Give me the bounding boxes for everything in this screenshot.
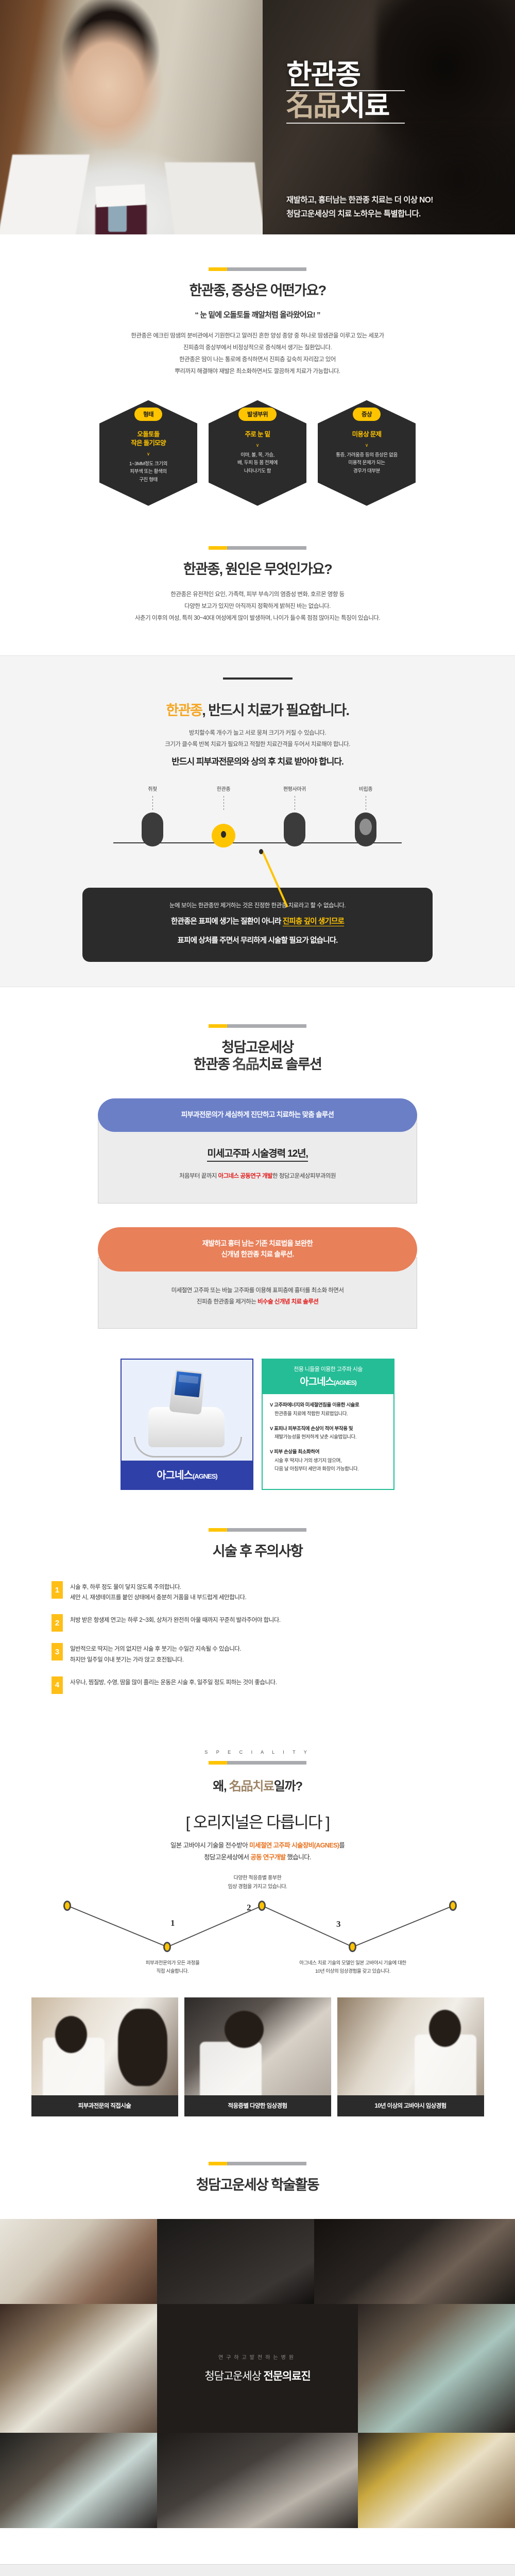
symptom-card-tag: 형태 (134, 408, 162, 421)
speciality-eyebrow: S P E C I A L I T Y (0, 1750, 515, 1755)
original-line1: 일본 고바야시 기술을 전수받아 미세절연 고주파 시술장비(AGNES)를 (0, 1840, 515, 1852)
solution-orange-line2-red: 비수술 신개념 치료 솔루션 (257, 1299, 318, 1305)
cause-body-line-2: 사춘기 이후의 여성, 특히 30~40대 여성에게 많이 발생하며, 나이가 … (0, 613, 515, 624)
section-solution: 청담고운세상 한관종 名品치료 솔루션 피부과전문의가 세심하게 진단하고 치료… (0, 987, 515, 1490)
zigzag-node (163, 1942, 171, 1952)
chevron-down-icon: ∨ (256, 443, 260, 448)
agnes-benefits-header: 전용 니들을 이용한 고주파 시술 아그네스(AGNES) (263, 1360, 393, 1394)
symptom-card-highlight: 미용상 문제 (352, 430, 382, 439)
lesion-shape-flat-wart (284, 812, 305, 846)
agnes-green-title-kr: 아그네스 (300, 1377, 334, 1387)
solution-heading-line2: 한관종 名品치료 솔루션 (0, 1056, 515, 1074)
agnes-device-photo (122, 1360, 252, 1461)
callout-line3: 표피에 상처를 주면서 무리하게 시술할 필요가 없습니다. (93, 935, 422, 947)
lesion-shape-milia (355, 812, 376, 846)
zigzag-caption-1-line2: 직접 시술합니다. (121, 1968, 224, 1976)
callout-line1: 눈에 보이는 한관종만 제거하는 것은 진정한 한관종 치료라고 할 수 없습니… (93, 901, 422, 909)
lesion-comparison-diagram: 쥐젖 한관종 편평사마귀 비립종 (113, 785, 402, 872)
aftercare-item: 1 시술 후, 하루 정도 물이 닿지 않도록 주의합니다. 세안 시, 재생테… (51, 1581, 463, 1603)
section-symptoms: 한관종, 증상은 어떤가요? “ 눈 밑에 오돌토돌 깨알처럼 올라왔어요! ”… (0, 234, 515, 506)
zigzag-caption-2-line1: 아그네스 치료 기술의 모델인 일본 고바야시 기술에 대한 (255, 1959, 451, 1968)
zigzag-node (449, 1901, 457, 1911)
symptoms-quote: “ 눈 밑에 오돌토돌 깨알처럼 올라왔어요! ” (0, 309, 515, 320)
section-press: 주요 언론에 소개된 청담고운세상 아시아뉴스통신Asia news agenc… (0, 2564, 515, 2576)
solution-blue-small: 처음부터 끝까지 아그네스 공동연구 개발한 청담고운세상피부과의원 (109, 1171, 406, 1182)
lesion-shape-syringoma (212, 824, 235, 848)
mosaic-photo (358, 2304, 515, 2433)
mosaic-title-bold: 전문의료진 (263, 2370, 310, 2382)
mosaic-photo (157, 2433, 358, 2528)
speciality-photo (31, 1997, 178, 2095)
section-rule-solution (209, 1024, 306, 1028)
symptom-card-highlight: 오돌토돌작은 돌기모양 (131, 430, 166, 448)
cause-body-line-0: 한관종은 유전적인 요인, 가족력, 피부 부속기의 염증성 변화, 호르몬 영… (0, 589, 515, 601)
section-aftercare: 시술 후 주의사항 1 시술 후, 하루 정도 물이 닿지 않도록 주의합니다.… (0, 1490, 515, 1693)
solution-orange-line2: 진피층 한관종을 제거하는 비수술 신개념 치료 솔루션 (109, 1297, 406, 1308)
agnes-device-caption-en: (AGNES) (193, 1472, 217, 1480)
original-line2-highlight: 공동 연구개발 (250, 1854, 285, 1861)
mosaic-photo (0, 2219, 157, 2304)
hero-subtitle: 재발하고, 흉터남는 한관종 치료는 더 이상 NO! 청담고운세상의 치료 노… (286, 193, 433, 221)
aftercare-item: 3 일반적으로 딱지는 거의 없지만 시술 후 붓기는 수일간 지속될 수 있습… (51, 1643, 463, 1665)
hero-title-brand: 名品 (286, 91, 340, 122)
lesion-item: 비립종 (341, 785, 390, 846)
original-line2-post: 했습니다. (286, 1854, 311, 1861)
hero-doctor-photo (0, 0, 263, 234)
aftercare-text-line: 일반적으로 딱지는 거의 없지만 시술 후 붓기는 수일간 지속될 수 있습니다… (70, 1644, 241, 1654)
hero-title-rest: 치료 (340, 91, 389, 122)
lesion-label: 편평사마귀 (270, 785, 319, 792)
lesion-leader-line (152, 796, 153, 810)
cause-body: 한관종은 유전적인 요인, 가족력, 피부 부속기의 염증성 변화, 호르몬 영… (0, 589, 515, 624)
section-rule-cause (209, 546, 306, 550)
agnes-benefit-item: V 표피나 피부조직에 손상이 적어 부작용 및 재발가능성을 현저하게 낮춘 … (270, 1425, 387, 1442)
need-strong: 반드시 피부과전문의와 상의 후 치료 받아야 합니다. (0, 754, 515, 767)
symptoms-body-line-3: 뿌리까지 해결해야 재발은 최소화하면서도 깔끔하게 치료가 가능합니다. (0, 366, 515, 378)
need-heading-rest: , 반드시 치료가 필요합니다. (202, 703, 349, 718)
solution-orange-line1: 미세절연 고주파 또는 바늘 고주파를 이용해 표피층에 흉터를 최소화 하면서 (109, 1285, 406, 1297)
original-paragraph: 일본 고바야시 기술을 전수받아 미세절연 고주파 시술장비(AGNES)를 청… (0, 1840, 515, 1863)
agnes-benefits-card: 전용 니들을 이용한 고주파 시술 아그네스(AGNES) V 고주파에너지와 … (262, 1359, 394, 1490)
solution-heading-line1: 청담고운세상 (0, 1039, 515, 1057)
zigzag-node (63, 1901, 71, 1911)
symptom-card: 발생부위 주로 눈 밑 ∨ 이마, 볼, 목, 가슴,배, 두피 등 몸 전체에… (209, 400, 306, 506)
zigzag-number-1: 1 (170, 1918, 175, 1928)
symptom-card-list: 형태 오돌토돌작은 돌기모양 ∨ 1~3MM정도 크기의피부색 또는 황색의구진… (0, 400, 515, 506)
agnes-benefit-line: 재발가능성을 현저하게 낮춘 시술법입니다. (270, 1433, 387, 1442)
speciality-photo-trio: 피부과전문의 직접시술 적응증별 다양한 임상경험 10년 이상의 고바야시 임… (0, 1997, 515, 2116)
aftercare-text-line: 하지만 일주일 이내 붓기는 가라 앉고 호전됩니다. (70, 1655, 241, 1665)
original-line1-pre: 일본 고바야시 기술을 전수받아 (170, 1842, 249, 1849)
hero-banner: 한관종 名品치료 재발하고, 흉터남는 한관종 치료는 더 이상 NO! 청담고… (0, 0, 515, 234)
symptoms-body-line-2: 한관종은 땀이 나는 통로에 증식하면서 진피층 깊숙히 자리잡고 있어 (0, 354, 515, 366)
aftercare-text-line: 세안 시, 재생테이프를 붙인 상태에서 충분히 거품을 내 부드럽게 세안합니… (70, 1592, 246, 1603)
zigzag-caption-1: 피부과전문의가 모든 과정을 직접 시술합니다. (121, 1959, 224, 1976)
lesion-label: 비립종 (341, 785, 390, 792)
section-rule-academic (209, 2162, 306, 2165)
original-line1-post: 를 (339, 1842, 345, 1849)
depth-callout-box: 눈에 보이는 한관종만 제거하는 것은 진정한 한관종 치료라고 할 수 없습니… (82, 888, 433, 961)
solution-orange-line2-pre: 진피층 한관종을 제거하는 (197, 1299, 257, 1305)
mosaic-row (0, 2433, 515, 2528)
solution-heading-line2-pre: 한관종 (194, 1057, 233, 1072)
speciality-photo-caption: 10년 이상의 고바야시 임상경험 (337, 2095, 484, 2116)
mosaic-title-pre: 청담고운세상 (204, 2370, 263, 2382)
lesion-shape-skin-tag (142, 812, 163, 846)
aftercare-number: 1 (51, 1581, 63, 1599)
symptoms-heading: 한관종, 증상은 어떤가요? (0, 282, 515, 300)
section-tick (223, 677, 293, 680)
solution-blue-small-post: 한 청담고운세상피부과의원 (272, 1173, 336, 1179)
symptom-card-desc: 1~3MM정도 크기의피부색 또는 황색의구진 형태 (129, 460, 167, 484)
agnes-benefit-item: V 고주파에너지와 미세절연침을 이용한 시술로 한관종을 치료에 적합한 치료… (270, 1401, 387, 1418)
section-speciality: S P E C I A L I T Y 왜, 名品치료일까? [ 오리지널은 다… (0, 1705, 515, 2116)
mosaic-center-text: 연구하고발전하는병원 청담고운세상 전문의료진 (157, 2304, 358, 2433)
original-line2-pre: 청담고운세상에서 (204, 1854, 250, 1861)
speciality-photo-caption: 피부과전문의 직접시술 (31, 2095, 178, 2116)
landing-page: 한관종 名品치료 재발하고, 흉터남는 한관종 치료는 더 이상 NO! 청담고… (0, 0, 515, 2576)
mosaic-eyebrow: 연구하고발전하는병원 (218, 2353, 297, 2361)
lesion-item: 편평사마귀 (270, 785, 319, 846)
solution-blue-small-pre: 처음부터 끝까지 (179, 1173, 218, 1179)
lesion-item: 쥐젖 (128, 785, 177, 846)
lesion-leader-line (224, 796, 224, 810)
aftercare-text: 사우나, 찜질방, 수영, 땀을 많이 흘리는 운동은 시술 후, 일주일 정도… (70, 1676, 277, 1688)
need-p2: 크기가 클수록 반복 치료가 필요하고 적절한 치료간격을 두어서 치료해야 합… (0, 739, 515, 750)
original-line2: 청담고운세상에서 공동 연구개발 했습니다. (0, 1852, 515, 1863)
hero-title-line1: 한관종 (286, 61, 503, 89)
aftercare-text: 시술 후, 하루 정도 물이 닿지 않도록 주의합니다. 세안 시, 재생테이프… (70, 1581, 246, 1603)
lesion-label: 쥐젖 (128, 785, 177, 792)
solution-pill-orange-line1: 재발하고 흉터 남는 기존 치료법을 보완한 (103, 1239, 412, 1249)
speciality-heading-pre: 왜, (213, 1780, 229, 1793)
agnes-device-caption-kr: 아그네스 (157, 1470, 193, 1481)
solution-pill-blue: 피부과전문의가 세심하게 진단하고 치료하는 맞춤 솔루션 (98, 1098, 417, 1132)
mosaic-center-tile: 연구하고발전하는병원 청담고운세상 전문의료진 (157, 2304, 358, 2433)
section-academic: 청담고운세상 학술활동 연구하고발전하는병원 청담고운세상 전문의료진 (0, 2116, 515, 2528)
symptoms-body-line-0: 한관종은 에크린 땀샘의 분비관에서 기원한다고 알려진 흔한 양성 종양 중 … (0, 330, 515, 342)
solution-blue-big: 미세고주파 시술경력 12년, (207, 1146, 307, 1162)
mosaic-photo (0, 2304, 157, 2433)
lesion-leader-line (295, 796, 295, 810)
speciality-heading-brand: 名品치료 (229, 1780, 274, 1793)
section-rule-aftercare (209, 1528, 306, 1532)
hero-title-line2: 名品치료 (286, 92, 503, 121)
symptom-card: 형태 오돌토돌작은 돌기모양 ∨ 1~3MM정도 크기의피부색 또는 황색의구진… (99, 400, 197, 506)
agnes-benefit-line: 한관종을 치료에 적합한 치료법입니다. (270, 1410, 387, 1419)
agnes-benefit-item: V 피부 손상을 최소화하여 시술 후 딱지나 거의 생기지 않으며, 다음 날… (270, 1448, 387, 1474)
chevron-down-icon: ∨ (147, 451, 150, 457)
hero-subtitle-line2: 청담고운세상의 치료 노하우는 특별합니다. (286, 207, 433, 221)
agnes-green-title-main: 아그네스(AGNES) (263, 1374, 393, 1388)
solution-pill-orange: 재발하고 흉터 남는 기존 치료법을 보완한 신개념 한관종 치료 솔루션. (98, 1227, 417, 1272)
aftercare-heading: 시술 후 주의사항 (0, 1543, 515, 1561)
lesion-label: 한관종 (199, 785, 248, 792)
original-line1-highlight: 미세절연 고주파 시술장비(AGNES) (249, 1842, 339, 1849)
mosaic-row: 연구하고발전하는병원 청담고운세상 전문의료진 (0, 2304, 515, 2433)
aftercare-number: 3 (51, 1643, 63, 1660)
chevron-down-icon: ∨ (365, 443, 369, 448)
zigzag-caption-1-line1: 피부과전문의가 모든 과정을 (121, 1959, 224, 1968)
aftercare-list: 1 시술 후, 하루 정도 물이 닿지 않도록 주의합니다. 세안 시, 재생테… (0, 1581, 515, 1694)
hero-title-group: 한관종 名品치료 (286, 61, 503, 124)
aftercare-text-line: 시술 후, 하루 정도 물이 닿지 않도록 주의합니다. (70, 1582, 246, 1592)
aftercare-text: 일반적으로 딱지는 거의 없지만 시술 후 붓기는 수일간 지속될 수 있습니다… (70, 1643, 241, 1665)
mosaic-photo (358, 2433, 515, 2528)
agnes-green-title-line1: 전용 니들을 이용한 고주파 시술 (263, 1365, 393, 1373)
lesion-leader-line (366, 796, 366, 810)
aftercare-number: 4 (51, 1676, 63, 1694)
zigzag-number-2: 2 (247, 1903, 251, 1913)
aftercare-text: 처방 받은 항생제 연고는 하루 2~3회, 상처가 완전히 아물 때까지 꾸준… (70, 1614, 281, 1625)
speciality-photo-caption: 적응증별 다양한 임상경험 (184, 2095, 331, 2116)
agnes-benefit-head: V 고주파에너지와 미세절연침을 이용한 시술로 (270, 1401, 387, 1410)
agnes-green-title-en: (AGNES) (334, 1379, 356, 1386)
mosaic-photo (0, 2433, 157, 2528)
solution-block-diagnosis: 피부과전문의가 세심하게 진단하고 치료하는 맞춤 솔루션 미세고주파 시술경력… (0, 1098, 515, 1204)
zigzag-node (258, 1901, 266, 1911)
agnes-benefit-line: 시술 후 딱지나 거의 생기지 않으며, (270, 1457, 387, 1466)
mosaic-photo (314, 2219, 515, 2304)
agnes-device-card: 아그네스(AGNES) (121, 1359, 253, 1490)
section-rule-symptoms (209, 267, 306, 271)
callout-line2-highlight: 진피층 깊이 생기므로 (283, 918, 344, 926)
cause-heading: 한관종, 원인은 무엇인가요? (0, 561, 515, 579)
solution-pill-orange-line2: 신개념 한관종 치료 솔루션. (103, 1249, 412, 1260)
zigzag-number-3: 3 (336, 1919, 341, 1929)
section-treatment-needed: 한관종, 반드시 치료가 필요합니다. 방치할수록 개수가 늘고 서로 뭉쳐 크… (0, 655, 515, 987)
speciality-photo (184, 1997, 331, 2095)
aftercare-number: 2 (51, 1614, 63, 1632)
hero-subtitle-line1: 재발하고, 흉터남는 한관종 치료는 더 이상 NO! (286, 193, 433, 207)
aftercare-item: 4 사우나, 찜질방, 수영, 땀을 많이 흘리는 운동은 시술 후, 일주일 … (51, 1676, 463, 1694)
callout-line2-pre: 한관종은 표피에 생기는 질환이 아니라 (171, 918, 283, 926)
mosaic-row (0, 2219, 515, 2304)
symptom-card-highlight: 주로 눈 밑 (245, 430, 270, 439)
need-heading-highlight: 한관종 (166, 703, 202, 718)
section-cause: 한관종, 원인은 무엇인가요? 한관종은 유전적인 요인, 가족력, 피부 부속… (0, 506, 515, 655)
solution-block-newconcept: 재발하고 흉터 남는 기존 치료법을 보완한 신개념 한관종 치료 솔루션. 미… (0, 1227, 515, 1329)
agnes-block: 아그네스(AGNES) 전용 니들을 이용한 고주파 시술 아그네스(AGNES… (0, 1359, 515, 1490)
speciality-photo-card: 10년 이상의 고바야시 임상경험 (337, 1997, 484, 2116)
agnes-device-caption: 아그네스(AGNES) (122, 1461, 252, 1489)
aftercare-item: 2 처방 받은 항생제 연고는 하루 2~3회, 상처가 완전히 아물 때까지 … (51, 1614, 463, 1632)
need-heading: 한관종, 반드시 치료가 필요합니다. (0, 699, 515, 719)
solution-heading: 청담고운세상 한관종 名品치료 솔루션 (0, 1039, 515, 1074)
solution-heading-brand: 名品 (232, 1057, 259, 1072)
lesion-item: 한관종 (199, 785, 248, 848)
speciality-photo (337, 1997, 484, 2095)
need-p1: 방치할수록 개수가 늘고 서로 뭉쳐 크기가 커질 수 있습니다. (0, 727, 515, 739)
original-heading: [ 오리지널은 다릅니다 ] (0, 1809, 515, 1833)
speciality-heading: 왜, 名品치료일까? (0, 1776, 515, 1794)
solution-blue-small-red: 아그네스 공동연구 개발 (218, 1173, 272, 1179)
solution-orange-text: 미세절연 고주파 또는 바늘 고주파를 이용해 표피층에 흉터를 최소화 하면서… (109, 1285, 406, 1308)
zigzag-node (349, 1942, 356, 1952)
symptom-card-tag: 증상 (353, 408, 381, 421)
agnes-benefit-head: V 표피나 피부조직에 손상이 적어 부작용 및 (270, 1425, 387, 1434)
speciality-zigzag-diagram: 다양한 적응증별 풍부한 임상 경험을 가지고 있습니다. 1 2 3 피부과전… (39, 1881, 476, 1984)
academic-heading: 청담고운세상 학술활동 (0, 2177, 515, 2194)
mosaic-title: 청담고운세상 전문의료진 (204, 2368, 310, 2383)
section-rule-speciality (209, 1761, 306, 1765)
aftercare-text-line: 처방 받은 항생제 연고는 하루 2~3회, 상처가 완전히 아물 때까지 꾸준… (70, 1615, 281, 1625)
agnes-benefit-head: V 피부 손상을 최소화하여 (270, 1448, 387, 1457)
callout-line2: 한관종은 표피에 생기는 질환이 아니라 진피층 깊이 생기므로 (93, 916, 422, 928)
symptom-card-desc: 통증, 가려움증 등의 증상은 없음미용적 문제가 되는경우가 대부분 (336, 451, 398, 476)
hero-divider-bottom (286, 123, 405, 124)
aftercare-text-line: 사우나, 찜질방, 수영, 땀을 많이 흘리는 운동은 시술 후, 일주일 정도… (70, 1677, 277, 1688)
solution-heading-line2-post: 치료 솔루션 (259, 1057, 321, 1072)
speciality-photo-card: 피부과전문의 직접시술 (31, 1997, 178, 2116)
speciality-heading-post: 일까? (274, 1780, 302, 1793)
mosaic-photo (157, 2219, 314, 2304)
zigzag-caption-2: 아그네스 치료 기술의 모델인 일본 고바야시 기술에 대한 10년 이상의 임… (255, 1959, 451, 1976)
zigzag-caption-2-line2: 10년 이상의 임상경험을 갖고 있습니다. (255, 1968, 451, 1976)
academic-photo-mosaic: 연구하고발전하는병원 청담고운세상 전문의료진 (0, 2219, 515, 2528)
symptom-card: 증상 미용상 문제 ∨ 통증, 가려움증 등의 증상은 없음미용적 문제가 되는… (318, 400, 416, 506)
symptom-card-desc: 이마, 볼, 목, 가슴,배, 두피 등 몸 전체에나타나기도 함 (237, 451, 278, 476)
symptom-card-tag: 발생부위 (238, 408, 277, 421)
agnes-benefit-line: 다음 날 아침부터 세안과 화장이 가능합니다. (270, 1465, 387, 1474)
symptoms-body-line-1: 진피층의 중상부에서 비정상적으로 증식해서 생기는 질환입니다. (0, 342, 515, 354)
speciality-photo-card: 적응증별 다양한 임상경험 (184, 1997, 331, 2116)
cause-body-line-1: 다양한 보고가 있지만 아직까지 정확하게 밝혀진 바는 없습니다. (0, 601, 515, 613)
symptoms-body: 한관종은 에크린 땀샘의 분비관에서 기원한다고 알려진 흔한 양성 종양 중 … (0, 330, 515, 378)
need-paragraph: 방치할수록 개수가 늘고 서로 뭉쳐 크기가 커질 수 있습니다. 크기가 클수… (0, 727, 515, 751)
